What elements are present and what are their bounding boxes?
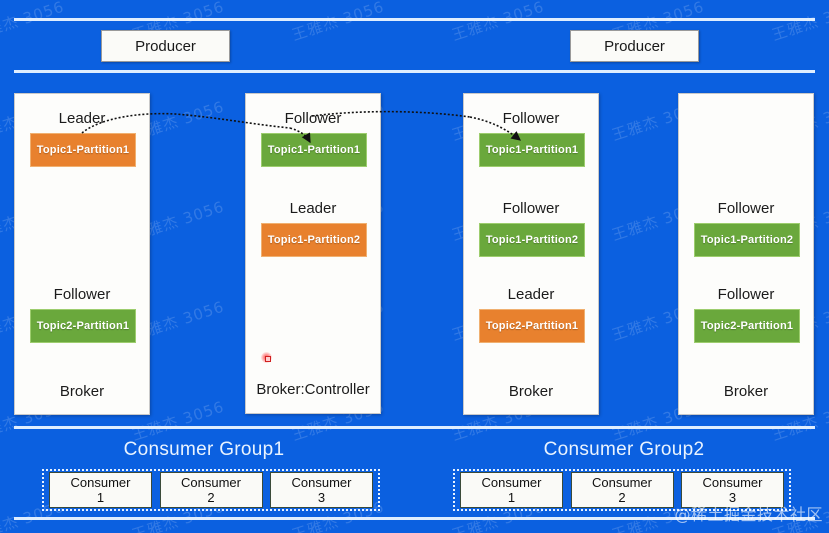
kafka-architecture-diagram: 王雅杰 3056王雅杰 3056王雅杰 3056王雅杰 3056王雅杰 3056… [0,0,829,533]
consumer-group-2-title: Consumer Group2 [434,439,814,461]
producer-box-2[interactable]: Producer [570,30,699,62]
separator-rule-top [14,18,815,21]
producer-label: Producer [604,38,665,55]
broker-3-slot-2-partition[interactable]: Topic2-Partition1 [479,309,585,343]
broker-2-footer-label: Broker:Controller [248,380,378,399]
consumer-index: 1 [97,490,104,505]
consumer-label: Consumer [181,475,241,490]
producer-box-1[interactable]: Producer [101,30,230,62]
broker-4-slot-2-role: Follower [679,286,813,304]
consumer-label: Consumer [703,475,763,490]
consumer-index: 1 [508,490,515,505]
consumer-index: 2 [207,490,214,505]
producer-label: Producer [135,38,196,55]
consumer-index: 3 [318,490,325,505]
consumer-label: Consumer [482,475,542,490]
separator-rule-producer-bottom [14,70,815,73]
broker-1-slot-0-partition[interactable]: Topic1-Partition1 [30,133,136,167]
broker-1-slot-0-role: Leader [15,110,149,128]
broker-column-1[interactable]: Leader Topic1-Partition1 Follower Topic2… [14,93,150,415]
consumer-2-2[interactable]: Consumer 2 [571,472,674,508]
broker-3-footer-label: Broker [466,382,596,401]
separator-rule-consumer-top [14,426,815,429]
consumer-label: Consumer [292,475,352,490]
cursor-dot [261,352,272,363]
broker-4-slot-1-role: Follower [679,200,813,218]
consumer-group-1-title: Consumer Group1 [14,439,394,461]
watermark-tile: 王雅杰 3056 [769,0,829,45]
broker-2-slot-0-partition[interactable]: Topic1-Partition1 [261,133,367,167]
broker-3-slot-1-partition[interactable]: Topic1-Partition2 [479,223,585,257]
broker-4-slot-2-partition[interactable]: Topic2-Partition1 [694,309,800,343]
consumer-2-1[interactable]: Consumer 1 [460,472,563,508]
corner-watermark: @稀土掘金技术社区 [674,501,823,525]
broker-1-slot-2-partition[interactable]: Topic2-Partition1 [30,309,136,343]
broker-column-2[interactable]: Follower Topic1-Partition1 Leader Topic1… [245,93,381,414]
broker-2-slot-1-partition[interactable]: Topic1-Partition2 [261,223,367,257]
consumer-index: 2 [618,490,625,505]
broker-1-footer-label: Broker [17,382,147,401]
broker-1-slot-2-role: Follower [15,286,149,304]
consumer-1-2[interactable]: Consumer 2 [160,472,263,508]
consumer-label: Consumer [71,475,131,490]
watermark-tile: 王雅杰 3056 [449,0,547,45]
watermark-tile: 王雅杰 3056 [289,0,387,45]
broker-2-slot-0-role: Follower [246,110,380,128]
broker-3-slot-1-role: Follower [464,200,598,218]
broker-3-slot-0-role: Follower [464,110,598,128]
broker-3-slot-0-partition[interactable]: Topic1-Partition1 [479,133,585,167]
consumer-label: Consumer [592,475,652,490]
broker-3-slot-2-role: Leader [464,286,598,304]
broker-4-footer-label: Broker [681,382,811,401]
broker-2-slot-1-role: Leader [246,200,380,218]
broker-column-4[interactable]: Follower Topic1-Partition2 Follower Topi… [678,93,814,415]
consumer-1-1[interactable]: Consumer 1 [49,472,152,508]
consumer-1-3[interactable]: Consumer 3 [270,472,373,508]
consumer-group-1-box: Consumer 1 Consumer 2 Consumer 3 [42,469,380,511]
broker-column-3[interactable]: Follower Topic1-Partition1 Follower Topi… [463,93,599,415]
broker-4-slot-1-partition[interactable]: Topic1-Partition2 [694,223,800,257]
watermark-tile: 王雅杰 3056 [0,0,67,45]
